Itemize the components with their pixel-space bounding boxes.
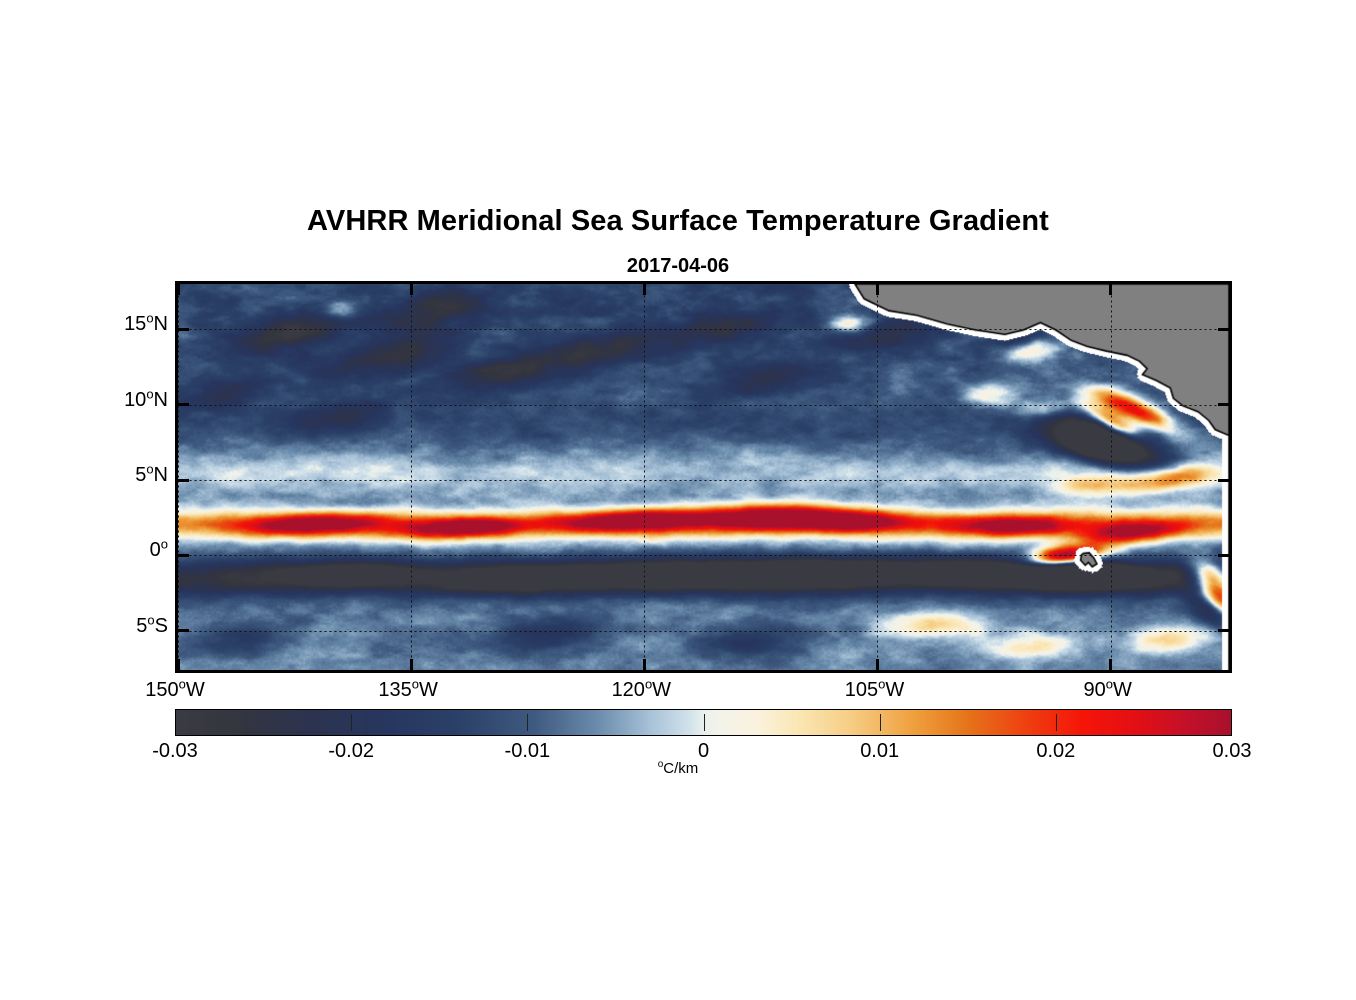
axis-tick-lat [178,554,189,557]
axis-label-lat: 0o [48,539,168,562]
sst-gradient-heatmap [178,284,1229,670]
axis-tick-lat [178,403,189,406]
axis-tick-lat [178,629,189,632]
figure-canvas: AVHRR Meridional Sea Surface Temperature… [0,0,1356,1000]
map-plot-area[interactable] [175,281,1232,673]
colorbar-unit-label: oC/km [0,760,1356,777]
axis-tick-lat [1218,554,1229,557]
axis-tick-lon [177,659,180,670]
colorbar-tick [527,714,528,731]
axis-tick-lat [1218,328,1229,331]
axis-tick-lon [876,284,879,295]
axis-label-lat: 15oN [48,313,168,336]
axis-tick-lon [643,284,646,295]
colorbar-tick [1056,714,1057,731]
colorbar-tick [880,714,881,731]
axis-label-lat: 10oN [48,389,168,412]
colorbar-tick [704,714,705,731]
axis-tick-lon [1109,659,1112,670]
axis-tick-lat [1218,629,1229,632]
axis-tick-lon [643,659,646,670]
axis-label-lon: 135oW [328,679,488,702]
axis-label-lat: 5oN [48,464,168,487]
axis-label-lon: 150oW [95,679,255,702]
axis-tick-lon [410,284,413,295]
colorbar-tick [351,714,352,731]
axis-label-lon: 120oW [561,679,721,702]
axis-tick-lon [410,659,413,670]
axis-label-lat: 5oS [48,615,168,638]
axis-tick-lon [876,659,879,670]
page-title: AVHRR Meridional Sea Surface Temperature… [0,205,1356,238]
colorbar[interactable] [175,709,1232,736]
chart-subtitle: 2017-04-06 [0,255,1356,278]
axis-tick-lat [178,328,189,331]
axis-tick-lat [1218,403,1229,406]
axis-label-lon: 90oW [1028,679,1188,702]
axis-tick-lon [1109,284,1112,295]
axis-tick-lon [177,284,180,295]
axis-tick-lat [1218,479,1229,482]
axis-label-lon: 105oW [794,679,954,702]
axis-tick-lat [178,479,189,482]
